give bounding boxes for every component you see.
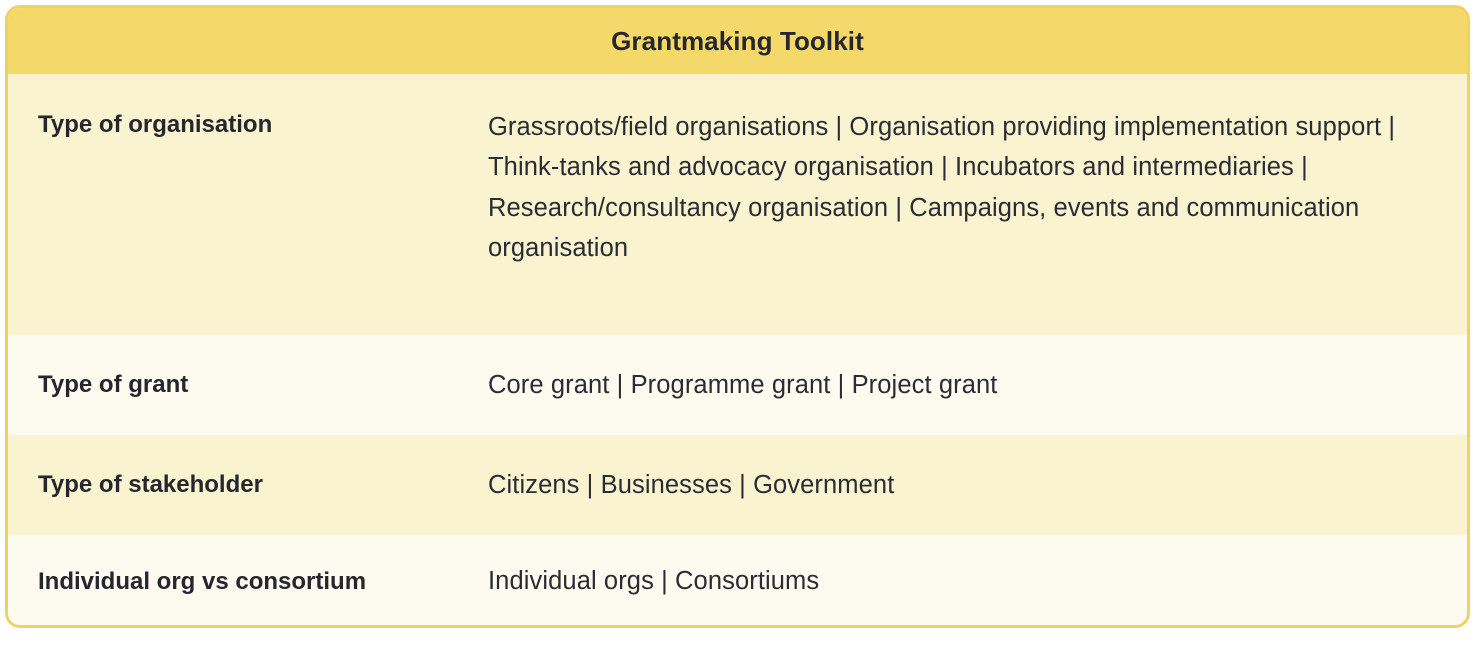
row-value-individual-org-vs-consortium: Individual orgs | Consortiums	[488, 561, 1467, 601]
row-label-type-of-grant: Type of grant	[8, 369, 488, 400]
row-value-type-of-organisation: Grassroots/field organisations | Organis…	[488, 107, 1467, 268]
table-row: Type of stakeholder Citizens | Businesse…	[8, 435, 1467, 535]
row-label-type-of-organisation: Type of organisation	[8, 107, 488, 140]
table-row: Type of grant Core grant | Programme gra…	[8, 335, 1467, 435]
page-title: Grantmaking Toolkit	[611, 26, 864, 57]
row-value-type-of-stakeholder: Citizens | Businesses | Government	[488, 465, 1467, 505]
table-row: Type of organisation Grassroots/field or…	[8, 74, 1467, 335]
row-value-type-of-grant: Core grant | Programme grant | Project g…	[488, 365, 1467, 405]
row-label-type-of-stakeholder: Type of stakeholder	[8, 469, 488, 500]
table-row: Individual org vs consortium Individual …	[8, 535, 1467, 628]
table-header: Grantmaking Toolkit	[8, 8, 1467, 74]
row-label-individual-org-vs-consortium: Individual org vs consortium	[8, 566, 488, 597]
grantmaking-toolkit-table: Grantmaking Toolkit Type of organisation…	[5, 5, 1470, 628]
